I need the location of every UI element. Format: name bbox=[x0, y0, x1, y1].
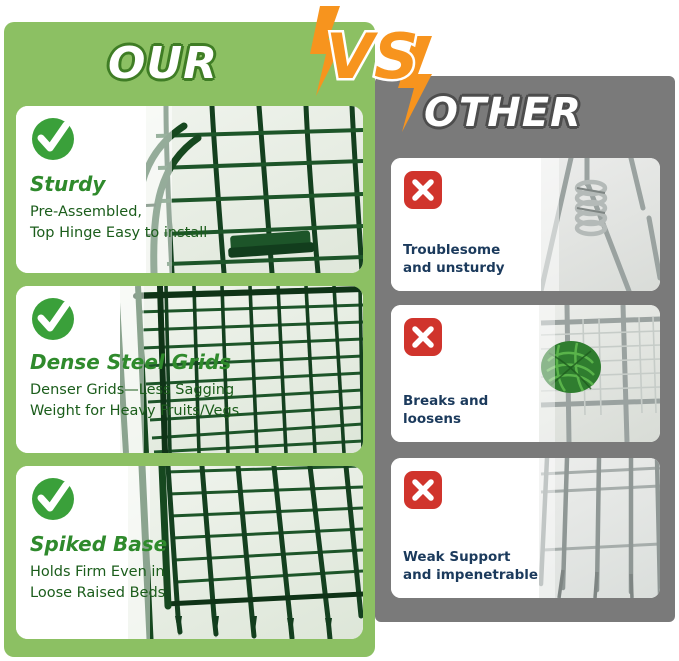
vs-label: VS bbox=[326, 20, 419, 93]
other-card-3-body: Weak Support and impenetrable bbox=[403, 548, 543, 584]
x-icon bbox=[403, 317, 443, 357]
x-icon bbox=[403, 470, 443, 510]
our-card-2-title: Dense Steel Grids bbox=[30, 350, 280, 374]
our-card-spiked-base: Spiked Base Holds Firm Even in Loose Rai… bbox=[16, 466, 363, 639]
our-card-2-body: Denser Grids—Less Sagging Weight for Hea… bbox=[30, 380, 280, 422]
other-card-3-text: Weak Support and impenetrable bbox=[403, 548, 543, 584]
other-card-2-body: Breaks and loosens bbox=[403, 392, 543, 428]
x-icon bbox=[403, 170, 443, 210]
other-card-weak-support: Weak Support and impenetrable bbox=[391, 458, 660, 598]
other-card-1-text: Troublesome and unsturdy bbox=[403, 241, 543, 277]
other-card-1-body: Troublesome and unsturdy bbox=[403, 241, 543, 277]
check-icon bbox=[30, 476, 76, 522]
other-card-2-text: Breaks and loosens bbox=[403, 392, 543, 428]
vs-badge: VS bbox=[306, 0, 434, 132]
our-card-1-body: Pre-Assembled, Top Hinge Easy to install bbox=[30, 202, 280, 244]
our-card-3-body: Holds Firm Even in Loose Raised Beds bbox=[30, 562, 280, 604]
other-card-breaks-loosens: Breaks and loosens bbox=[391, 305, 660, 442]
check-icon bbox=[30, 296, 76, 342]
check-icon bbox=[30, 116, 76, 162]
comparison-infographic: OUR bbox=[0, 0, 679, 661]
our-card-3-title: Spiked Base bbox=[30, 532, 280, 556]
our-card-dense-steel-grids: Dense Steel Grids Denser Grids—Less Sagg… bbox=[16, 286, 363, 453]
our-card-1-title: Sturdy bbox=[30, 172, 280, 196]
other-card-troublesome: Troublesome and unsturdy bbox=[391, 158, 660, 291]
our-heading: OUR bbox=[108, 38, 218, 89]
other-heading: OTHER bbox=[424, 90, 582, 136]
